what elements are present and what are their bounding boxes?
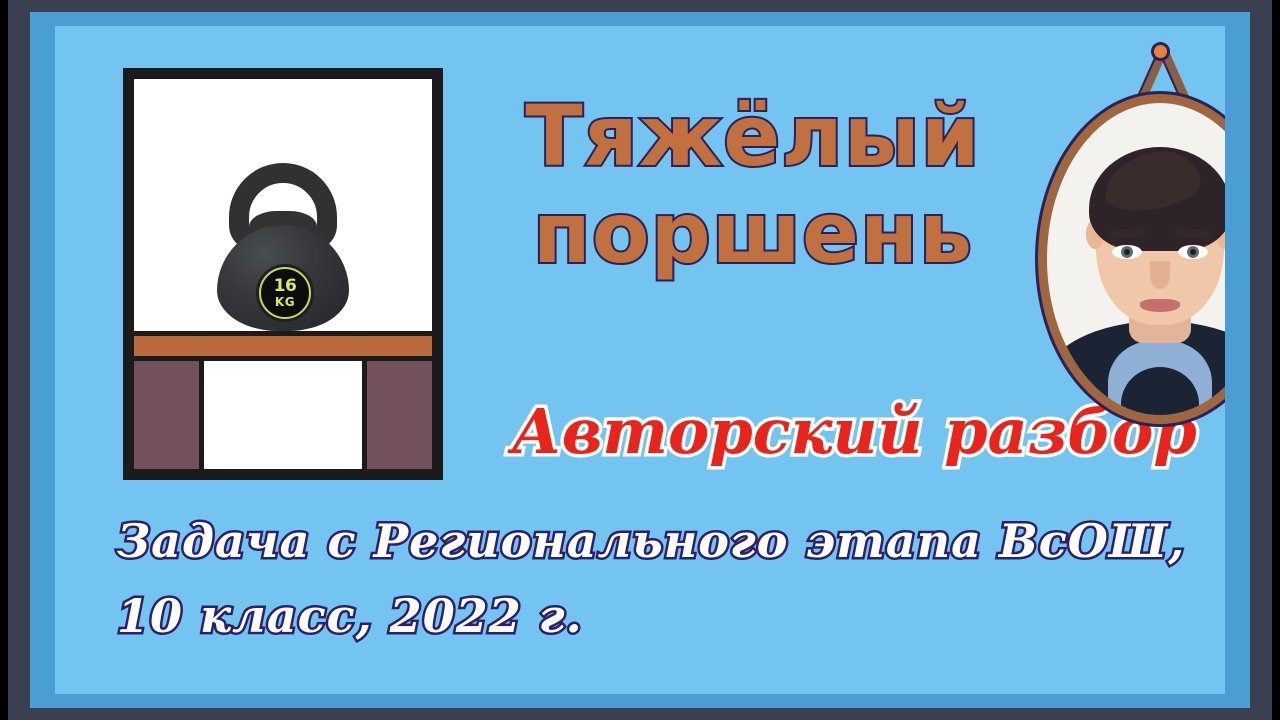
inner-blue-rule: 16 KG Тяжёлый (30, 12, 1250, 708)
portrait-oval-frame (1038, 94, 1225, 424)
kettlebell-weight-unit: KG (275, 296, 295, 308)
outer-slate-border: 16 KG Тяжёлый (8, 0, 1272, 720)
title-line-1: Тяжёлый (473, 88, 1033, 185)
title-block: Тяжёлый поршень (473, 88, 1033, 281)
portrait-mouth (1140, 299, 1180, 312)
gas-chamber (204, 361, 362, 469)
portrait-iris-right (1187, 246, 1199, 258)
kettlebell-icon: 16 KG (203, 163, 363, 331)
piston-bar (134, 331, 432, 361)
subtitle-block: Задача с Регионального этапа ВсОШ, 10 кл… (117, 504, 1225, 653)
portrait-iris-left (1121, 246, 1133, 258)
subtitle-line-2: 10 класс, 2022 г. (117, 579, 1225, 654)
kettlebell-weight-badge: 16 KG (259, 267, 311, 319)
video-thumbnail: 16 KG Тяжёлый (0, 0, 1280, 720)
portrait-eye-left (1112, 245, 1142, 259)
cylinder-wall-left (134, 361, 204, 469)
portrait-assembly (1032, 38, 1225, 438)
portrait-eye-right (1178, 245, 1208, 259)
subtitle-line-1: Задача с Регионального этапа ВсОШ, (117, 504, 1225, 579)
thumbnail-canvas: 16 KG Тяжёлый (55, 26, 1225, 694)
illustration-panel: 16 KG (123, 68, 443, 480)
cord-knob-icon (1151, 42, 1170, 61)
portrait-illustration (1047, 103, 1225, 415)
portrait-nose (1150, 261, 1170, 289)
title-line-2: поршень (473, 185, 1033, 282)
kettlebell-weight-number: 16 (274, 278, 297, 295)
illustration-inner: 16 KG (134, 79, 432, 469)
cylinder-section (134, 361, 432, 469)
cylinder-wall-right (362, 361, 432, 469)
